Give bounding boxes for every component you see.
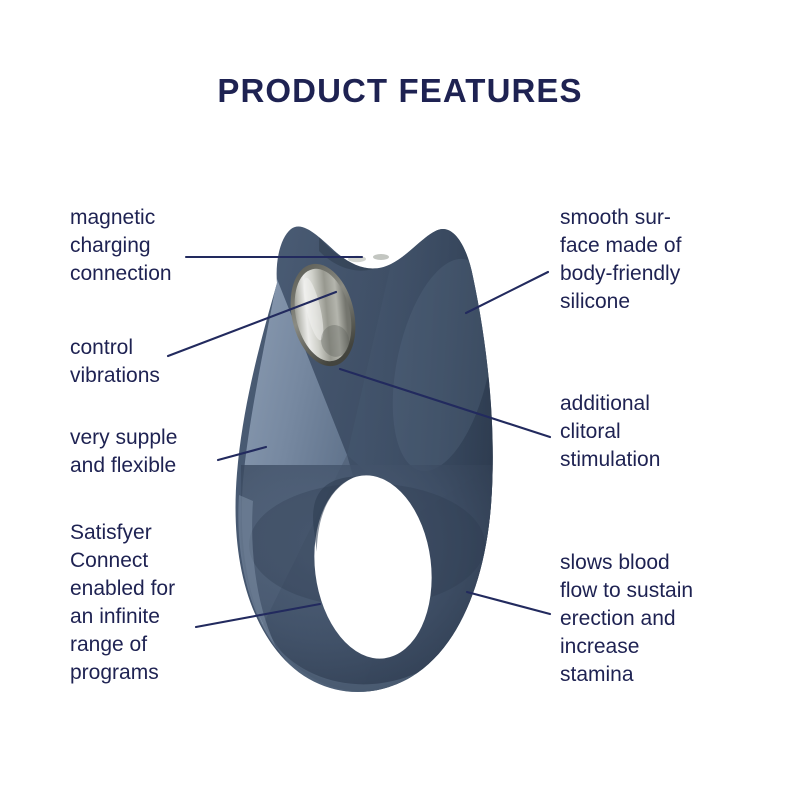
product-body-shape — [236, 225, 515, 705]
feature-label-magnetic-charging: magnetic charging connection — [70, 204, 250, 288]
feature-label-clitoral-stimulation: additional clitoral stimulation — [560, 390, 755, 474]
feature-label-smooth-surface: smooth sur- face made of body-friendly s… — [560, 204, 755, 316]
product-features-infographic: PRODUCT FEATURES — [0, 0, 800, 800]
feature-label-satisfyer-connect: Satisfyer Connect enabled for an infinit… — [70, 519, 255, 687]
page-title: PRODUCT FEATURES — [0, 72, 800, 110]
magnetic-charging-contacts — [348, 254, 389, 262]
product-illustration — [215, 215, 545, 705]
feature-label-slows-blood-flow: slows blood flow to sustain erection and… — [560, 549, 765, 689]
feature-label-control-vibrations: control vibrations — [70, 334, 250, 390]
feature-label-very-supple: very supple and flexible — [70, 424, 260, 480]
